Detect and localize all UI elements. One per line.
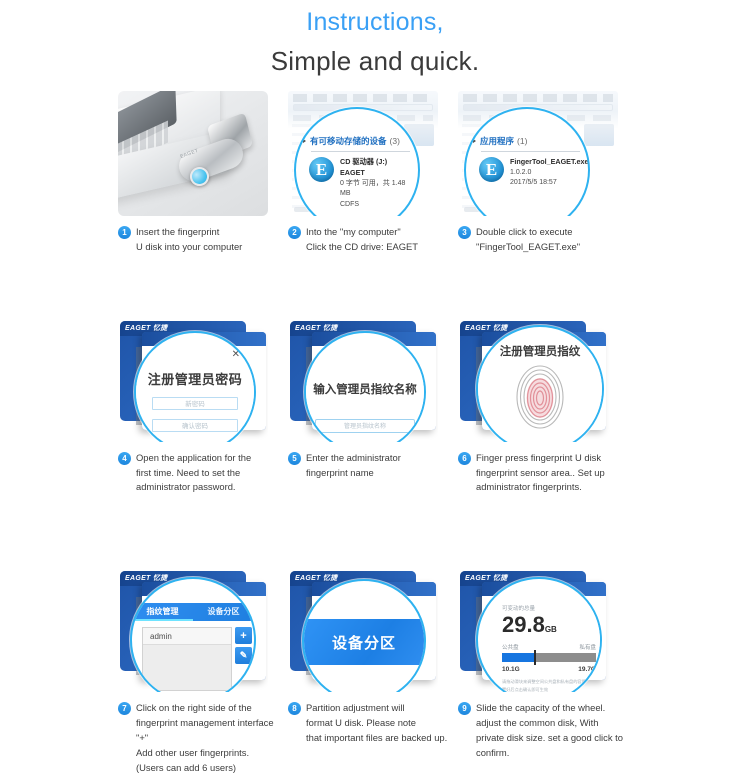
app-window-7: EAGET 忆捷 指纹管理 设备分区 admin — [118, 567, 268, 692]
eaget-drive-icon: E — [309, 157, 334, 182]
step-6-image: EAGET 忆捷 注册管理员指纹 — [458, 317, 618, 442]
tab-bar: 指纹管理 设备分区 — [132, 603, 254, 621]
page-subtitle: Simple and quick. — [0, 37, 750, 77]
step-badge-7: 7 — [118, 702, 131, 715]
add-user-button[interactable]: + — [235, 627, 252, 644]
application-date: 2017/5/5 18:57 — [510, 178, 589, 189]
public-disk-label: 公共盘 — [502, 643, 519, 651]
row-spacer-1 — [0, 255, 750, 317]
step-4-caption-text: Open the application for the first time.… — [136, 451, 251, 496]
step-3-caption: 3 Double click to execute "FingerTool_EA… — [458, 225, 648, 255]
step-1-panel: EAGET — [118, 91, 268, 216]
app-window-5: EAGET 忆捷 输入管理员指纹名称 管理员指纹名称 — [288, 317, 438, 442]
fingerprint-name-field[interactable]: 管理员指纹名称 — [315, 419, 415, 433]
magnifier-lens: 注册管理员指纹 — [476, 325, 604, 442]
close-icon[interactable]: ✕ — [232, 350, 240, 360]
step-badge-8: 8 — [288, 702, 301, 715]
partition-body — [304, 665, 424, 692]
window-titlebar — [463, 94, 613, 102]
group-count: (1) — [517, 136, 527, 146]
partition-banner: 设备分区 — [304, 619, 424, 665]
app-window-8: EAGET 忆捷 设备分区 — [288, 567, 438, 692]
capacity-label: 可变动的总量 — [502, 604, 596, 612]
eaget-app-icon: E — [479, 157, 504, 182]
details-pane — [584, 124, 614, 146]
step-badge-4: 4 — [118, 452, 131, 465]
step-7-caption: 7 Click on the right side of the fingerp… — [118, 701, 288, 775]
fingerprint-icon — [514, 363, 566, 431]
step-3-caption-text: Double click to execute "FingerTool_EAGE… — [476, 225, 580, 255]
capacity-slider[interactable] — [502, 653, 596, 662]
drive-item[interactable]: E CD 驱动器 (J:) EAGET 0 字节 可用，共 1.48 MB CD… — [303, 157, 410, 210]
dialog-title: 注册管理员指纹 — [500, 343, 581, 359]
step-2-caption: 2 Into the "my computer" Click the CD dr… — [288, 225, 458, 255]
step-4-panel: EAGET 忆捷 ✕ 注册管理员密码 新密码 确认密码 — [118, 317, 268, 442]
fingerprint-user-list: admin — [142, 627, 232, 691]
step-badge-9: 9 — [458, 702, 471, 715]
drive-item-text: CD 驱动器 (J:) EAGET 0 字节 可用，共 1.48 MB CDFS — [340, 157, 410, 210]
capacity-slider-handle[interactable] — [534, 650, 536, 665]
step-6-caption-text: Finger press fingerprint U disk fingerpr… — [476, 451, 605, 496]
row-spacer-2 — [0, 495, 750, 567]
step-8-image: EAGET 忆捷 设备分区 — [288, 567, 438, 692]
step-badge-1: 1 — [118, 226, 131, 239]
step-2-caption-text: Into the "my computer" Click the CD driv… — [306, 225, 418, 255]
group-header: 应用程序 (1) — [473, 135, 580, 147]
group-header: 有可移动存储的设备 (3) — [303, 135, 410, 147]
step-2-image: 有可移动存储的设备 (3) E CD 驱动器 (J:) EAGET 0 字节 可… — [288, 91, 438, 216]
steps-row-3: EAGET 忆捷 指纹管理 设备分区 admin — [0, 567, 750, 692]
step-1-caption: 1 Insert the fingerprint U disk into you… — [118, 225, 288, 255]
group-count: (3) — [390, 136, 400, 146]
step-6-caption: 6 Finger press fingerprint U disk finger… — [458, 451, 648, 496]
step-7-caption-text: Click on the right side of the fingerpri… — [136, 701, 288, 775]
drive-filesystem: CDFS — [340, 200, 410, 211]
capacity-value: 29.8GB — [502, 613, 596, 637]
step-5-caption-text: Enter the administrator fingerprint name — [306, 451, 401, 481]
chevron-right-icon — [473, 139, 476, 143]
capacity-note: 请拖动滑块来调整空间公共盘和私有盘的容量，设置好后点击确认即可生效 — [502, 678, 596, 692]
step-7-image: EAGET 忆捷 指纹管理 设备分区 admin — [118, 567, 268, 692]
instructions-page: Instructions, Simple and quick. EAGET — [0, 0, 750, 750]
list-action-buttons: + ✎ — [235, 627, 252, 664]
private-disk-label: 私有盘 — [579, 643, 596, 651]
step-9-caption: 9 Slide the capacity of the wheel. adjus… — [458, 701, 648, 775]
step-7-panel: EAGET 忆捷 指纹管理 设备分区 admin — [118, 567, 268, 692]
captions-row-3: 7 Click on the right side of the fingerp… — [0, 701, 750, 775]
chevron-right-icon — [303, 139, 306, 143]
public-disk-value: 10.1G — [502, 666, 520, 673]
magnifier-lens: 应用程序 (1) E FingerTool_EAGET.exe 1.0.2.0 … — [464, 107, 590, 216]
laptop-usb-photo: EAGET — [118, 91, 268, 216]
lens-content: 有可移动存储的设备 (3) E CD 驱动器 (J:) EAGET 0 字节 可… — [296, 109, 418, 216]
step-9-image: EAGET 忆捷 可变动的总量 29.8GB — [458, 567, 618, 692]
step-4-image: EAGET 忆捷 ✕ 注册管理员密码 新密码 确认密码 — [118, 317, 268, 442]
capacity-card: 可变动的总量 29.8GB 公共盘 私有盘 — [494, 597, 602, 692]
tab-device-partition[interactable]: 设备分区 — [193, 603, 254, 621]
capacity-unit: GB — [545, 625, 557, 634]
step-9-panel: EAGET 忆捷 可变动的总量 29.8GB — [458, 567, 618, 692]
tab-fingerprint-management[interactable]: 指纹管理 — [132, 603, 193, 621]
captions-row-2: 4 Open the application for the first tim… — [0, 451, 750, 496]
application-item-text: FingerTool_EAGET.exe 1.0.2.0 2017/5/5 18… — [510, 157, 589, 189]
fingerprint-name-dialog: 输入管理员指纹名称 管理员指纹名称 — [306, 351, 424, 442]
fingerprint-svg — [514, 363, 566, 431]
dialog-title: 注册管理员密码 — [148, 369, 243, 388]
step-badge-5: 5 — [288, 452, 301, 465]
app-window-6: EAGET 忆捷 注册管理员指纹 — [458, 317, 618, 442]
partition-end-labels: 公共盘 私有盘 — [502, 643, 596, 651]
dialog-title: 输入管理员指纹名称 — [313, 381, 417, 397]
captions-row-1: 1 Insert the fingerprint U disk into you… — [0, 225, 750, 255]
application-name: FingerTool_EAGET.exe — [510, 157, 589, 168]
step-5-panel: EAGET 忆捷 输入管理员指纹名称 管理员指纹名称 — [288, 317, 438, 442]
steps-row-2: EAGET 忆捷 ✕ 注册管理员密码 新密码 确认密码 — [0, 317, 750, 442]
group-label: 有可移动存储的设备 — [310, 135, 387, 147]
app-window-9: EAGET 忆捷 可变动的总量 29.8GB — [458, 567, 618, 692]
step-6-panel: EAGET 忆捷 注册管理员指纹 — [458, 317, 618, 442]
step-8-caption: 8 Partition adjustment will format U dis… — [288, 701, 458, 775]
step-2-panel: 有可移动存储的设备 (3) E CD 驱动器 (J:) EAGET 0 字节 可… — [288, 91, 438, 216]
step-8-panel: EAGET 忆捷 设备分区 — [288, 567, 438, 692]
application-version: 1.0.2.0 — [510, 168, 589, 179]
new-password-field[interactable]: 新密码 — [152, 397, 238, 410]
steps-row-1: EAGET — [0, 91, 750, 216]
page-title: Instructions, — [0, 0, 750, 37]
explorer-window: 有可移动存储的设备 (3) E CD 驱动器 (J:) EAGET 0 字节 可… — [288, 91, 438, 216]
password-dialog: ✕ 注册管理员密码 新密码 确认密码 — [136, 351, 254, 442]
step-badge-2: 2 — [288, 226, 301, 239]
step-4-caption: 4 Open the application for the first tim… — [118, 451, 288, 496]
step-3-panel: 应用程序 (1) E FingerTool_EAGET.exe 1.0.2.0 … — [458, 91, 618, 216]
confirm-password-field[interactable]: 确认密码 — [152, 419, 238, 432]
magnifier-lens: 指纹管理 设备分区 admin + ✎ — [130, 577, 256, 692]
group-divider — [481, 151, 580, 152]
step-8-caption-text: Partition adjustment will format U disk.… — [306, 701, 447, 746]
magnifier-lens: 设备分区 — [302, 579, 426, 692]
app-window-4: EAGET 忆捷 ✕ 注册管理员密码 新密码 确认密码 — [118, 317, 268, 442]
partition-values: 10.1G 19.7G — [502, 666, 596, 673]
window-titlebar — [293, 94, 433, 102]
application-item[interactable]: E FingerTool_EAGET.exe 1.0.2.0 2017/5/5 … — [473, 157, 580, 189]
register-fingerprint-dialog: 注册管理员指纹 — [478, 337, 602, 442]
list-item[interactable]: admin — [143, 628, 231, 645]
capacity-slider-fill — [502, 653, 534, 662]
drive-capacity: 0 字节 可用，共 1.48 MB — [340, 179, 410, 200]
step-5-image: EAGET 忆捷 输入管理员指纹名称 管理员指纹名称 — [288, 317, 438, 442]
step-badge-6: 6 — [458, 452, 471, 465]
step-1-image: EAGET — [118, 91, 268, 216]
private-disk-value: 19.7G — [578, 666, 596, 673]
step-1-caption-text: Insert the fingerprint U disk into your … — [136, 225, 242, 255]
step-5-caption: 5 Enter the administrator fingerprint na… — [288, 451, 458, 496]
magnifier-lens: 有可移动存储的设备 (3) E CD 驱动器 (J:) EAGET 0 字节 可… — [294, 107, 420, 216]
group-label: 应用程序 — [480, 135, 514, 147]
group-divider — [311, 151, 410, 152]
explorer-window-apps: 应用程序 (1) E FingerTool_EAGET.exe 1.0.2.0 … — [458, 91, 618, 216]
step-9-caption-text: Slide the capacity of the wheel. adjust … — [476, 701, 623, 760]
capacity-number: 29.8 — [502, 612, 545, 637]
step-3-image: 应用程序 (1) E FingerTool_EAGET.exe 1.0.2.0 … — [458, 91, 618, 216]
magnifier-lens: 可变动的总量 29.8GB 公共盘 私有盘 — [476, 577, 602, 692]
edit-user-button[interactable]: ✎ — [235, 647, 252, 664]
drive-name: CD 驱动器 (J:) EAGET — [340, 157, 410, 179]
lens-content: 应用程序 (1) E FingerTool_EAGET.exe 1.0.2.0 … — [466, 109, 588, 216]
step-badge-3: 3 — [458, 226, 471, 239]
